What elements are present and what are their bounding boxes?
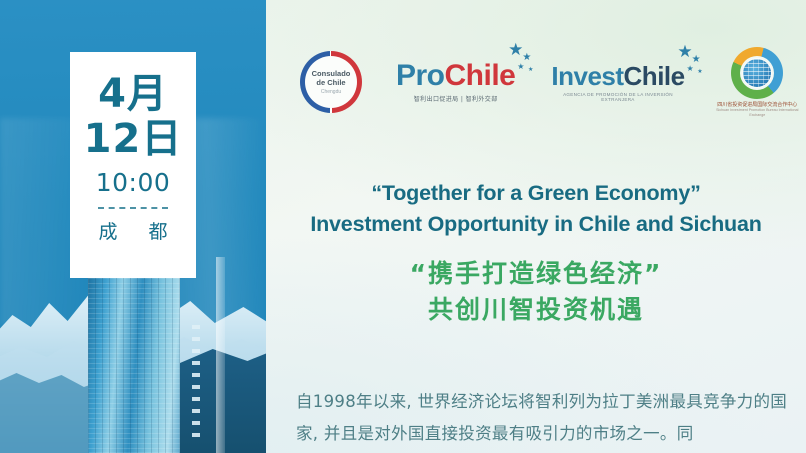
left-image-panel: 4月 12日 10:00 成 都 bbox=[0, 0, 266, 453]
event-day: 12日 bbox=[84, 119, 183, 160]
globe-icon bbox=[731, 47, 783, 99]
consulado-city: Chengdu bbox=[312, 89, 351, 95]
english-title-line1: “Together for a Green Economy” bbox=[266, 178, 806, 209]
sichuan-subtitle: 四川省投资促进局国际交流合作中心 Sichuan Investment Prom… bbox=[715, 102, 800, 118]
investchile-stars-icon: ★★★★ bbox=[657, 43, 703, 79]
sichuan-subtitle-en: Sichuan Investment Promotion Bureau Inte… bbox=[715, 108, 800, 117]
title-block: “Together for a Green Economy” Investmen… bbox=[266, 178, 806, 329]
consulado-text: Consulado de Chile Chengdu bbox=[312, 69, 351, 95]
tower-window-strip bbox=[192, 325, 200, 445]
event-month: 4月 bbox=[98, 74, 168, 115]
chinese-title: “携手打造绿色经济” 共创川智投资机遇 bbox=[266, 256, 806, 329]
prochile-word-pro: Pro bbox=[396, 59, 445, 92]
prochile-stars-icon: ★★★★ bbox=[487, 41, 533, 77]
logo-consulado-de-chile: Consulado de Chile Chengdu bbox=[300, 51, 362, 113]
card-dashed-divider bbox=[98, 207, 168, 209]
consulado-line1: Consulado bbox=[312, 69, 351, 78]
logo-investchile: ★★★★ InvestChile AGENCIA DE PROMOCIÓN DE… bbox=[551, 63, 684, 102]
costanera-tower-image bbox=[88, 258, 180, 453]
english-title: “Together for a Green Economy” Investmen… bbox=[266, 178, 806, 239]
globe-sphere bbox=[743, 59, 771, 87]
logo-bar: Consulado de Chile Chengdu ★★★★ ProChile… bbox=[280, 44, 800, 120]
tower-seam bbox=[216, 257, 225, 453]
consulado-line2: de Chile bbox=[316, 78, 345, 87]
chinese-title-line2: 共创川智投资机遇 bbox=[266, 292, 806, 328]
event-poster: 4月 12日 10:00 成 都 Consulado de Chile Chen… bbox=[0, 0, 806, 453]
event-date-card: 4月 12日 10:00 成 都 bbox=[70, 52, 196, 278]
event-time: 10:00 bbox=[96, 168, 171, 197]
logo-prochile: ★★★★ ProChile 智利出口促进局 | 智利外交部 bbox=[396, 61, 515, 103]
logo-sichuan-exchange: 四川省投资促进局国际交流合作中心 Sichuan Investment Prom… bbox=[715, 47, 800, 118]
english-title-line2: Investment Opportunity in Chile and Sich… bbox=[266, 209, 806, 240]
prochile-subtitle: 智利出口促进局 | 智利外交部 bbox=[414, 94, 498, 103]
investchile-word-invest: Invest bbox=[551, 61, 623, 91]
consulado-ring-icon: Consulado de Chile Chengdu bbox=[300, 51, 362, 113]
event-city: 成 都 bbox=[92, 217, 173, 244]
investchile-subtitle: AGENCIA DE PROMOCIÓN DE LA INVERSIÓN EXT… bbox=[551, 92, 684, 102]
sichuan-subtitle-cn: 四川省投资促进局国际交流合作中心 bbox=[717, 102, 797, 108]
body-paragraph: 自1998年以来, 世界经济论坛将智利列为拉丁美洲最具竞争力的国家, 并且是对外… bbox=[296, 386, 792, 450]
chinese-title-line1: “携手打造绿色经济” bbox=[266, 256, 806, 292]
